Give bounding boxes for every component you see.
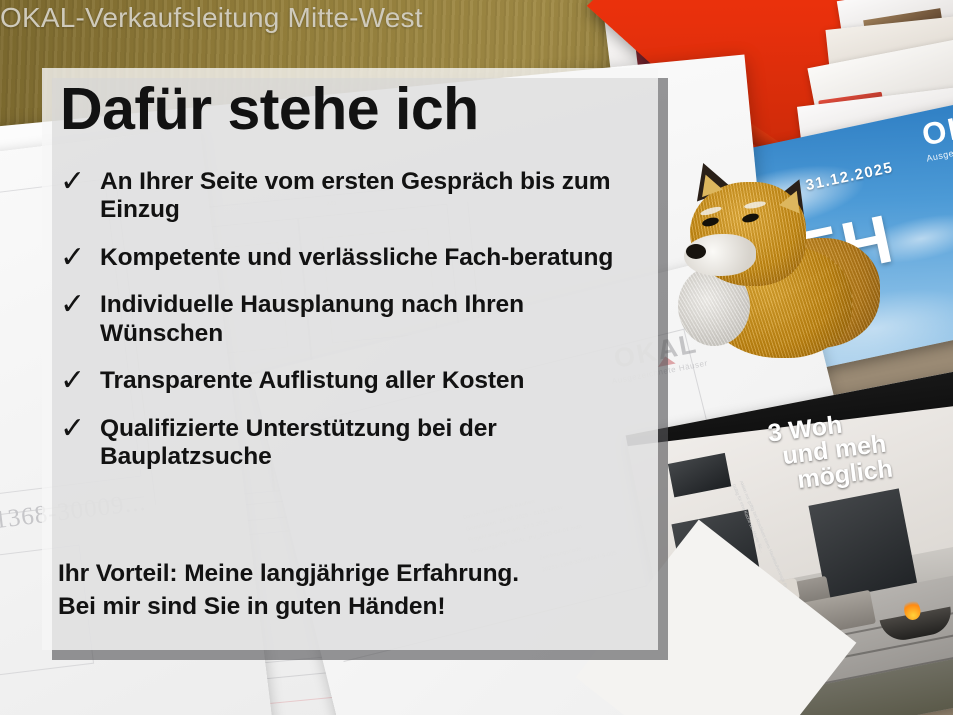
list-item-label: Qualifizierte Unterstützung bei der Baup… xyxy=(100,415,652,472)
list-item-label: Kompetente und verlässliche Fach-beratun… xyxy=(100,244,652,273)
list-item: ✓ Qualifizierte Unterstützung bei der Ba… xyxy=(56,415,652,472)
content-panel: Dafür stehe ich ✓ An Ihrer Seite vom ers… xyxy=(42,68,658,650)
blue-flyer-brand-block: OK Ausgezeich xyxy=(918,108,953,164)
checkmark-icon: ✓ xyxy=(56,367,100,396)
watermark-title: OKAL-Verkaufsleitung Mitte-West xyxy=(0,2,423,34)
checkmark-icon: ✓ xyxy=(56,168,100,225)
list-item: ✓ Transparente Auflistung aller Kosten xyxy=(56,367,652,396)
list-item-label: An Ihrer Seite vom ersten Gespräch bis z… xyxy=(100,168,652,225)
closing-statement: Ihr Vorteil: Meine langjährige Erfahrung… xyxy=(58,558,648,624)
list-item: ✓ Kompetente und verlässliche Fach-berat… xyxy=(56,244,652,273)
checkmark-icon: ✓ xyxy=(56,244,100,273)
fox-nose xyxy=(686,244,706,259)
list-item-label: Individuelle Hausplanung nach Ihren Wüns… xyxy=(100,291,652,348)
checkmark-icon: ✓ xyxy=(56,291,100,348)
plush-fox-figurine xyxy=(664,160,880,376)
list-item: ✓ Individuelle Hausplanung nach Ihren Wü… xyxy=(56,291,652,348)
closing-line-2: Bei mir sind Sie in guten Händen! xyxy=(58,591,648,624)
list-item-label: Transparente Auflistung aller Kosten xyxy=(100,367,652,396)
closing-line-1: Ihr Vorteil: Meine langjährige Erfahrung… xyxy=(58,558,648,591)
page-title: Dafür stehe ich xyxy=(60,80,479,139)
list-item: ✓ An Ihrer Seite vom ersten Gespräch bis… xyxy=(56,168,652,225)
benefits-list: ✓ An Ihrer Seite vom ersten Gespräch bis… xyxy=(56,168,652,490)
checkmark-icon: ✓ xyxy=(56,415,100,472)
blue-flyer-brand-name: OK xyxy=(918,108,953,154)
slide-canvas: OK Ausgezeich 15.03. – 31.12.2025 MEH 3,… xyxy=(0,0,953,715)
